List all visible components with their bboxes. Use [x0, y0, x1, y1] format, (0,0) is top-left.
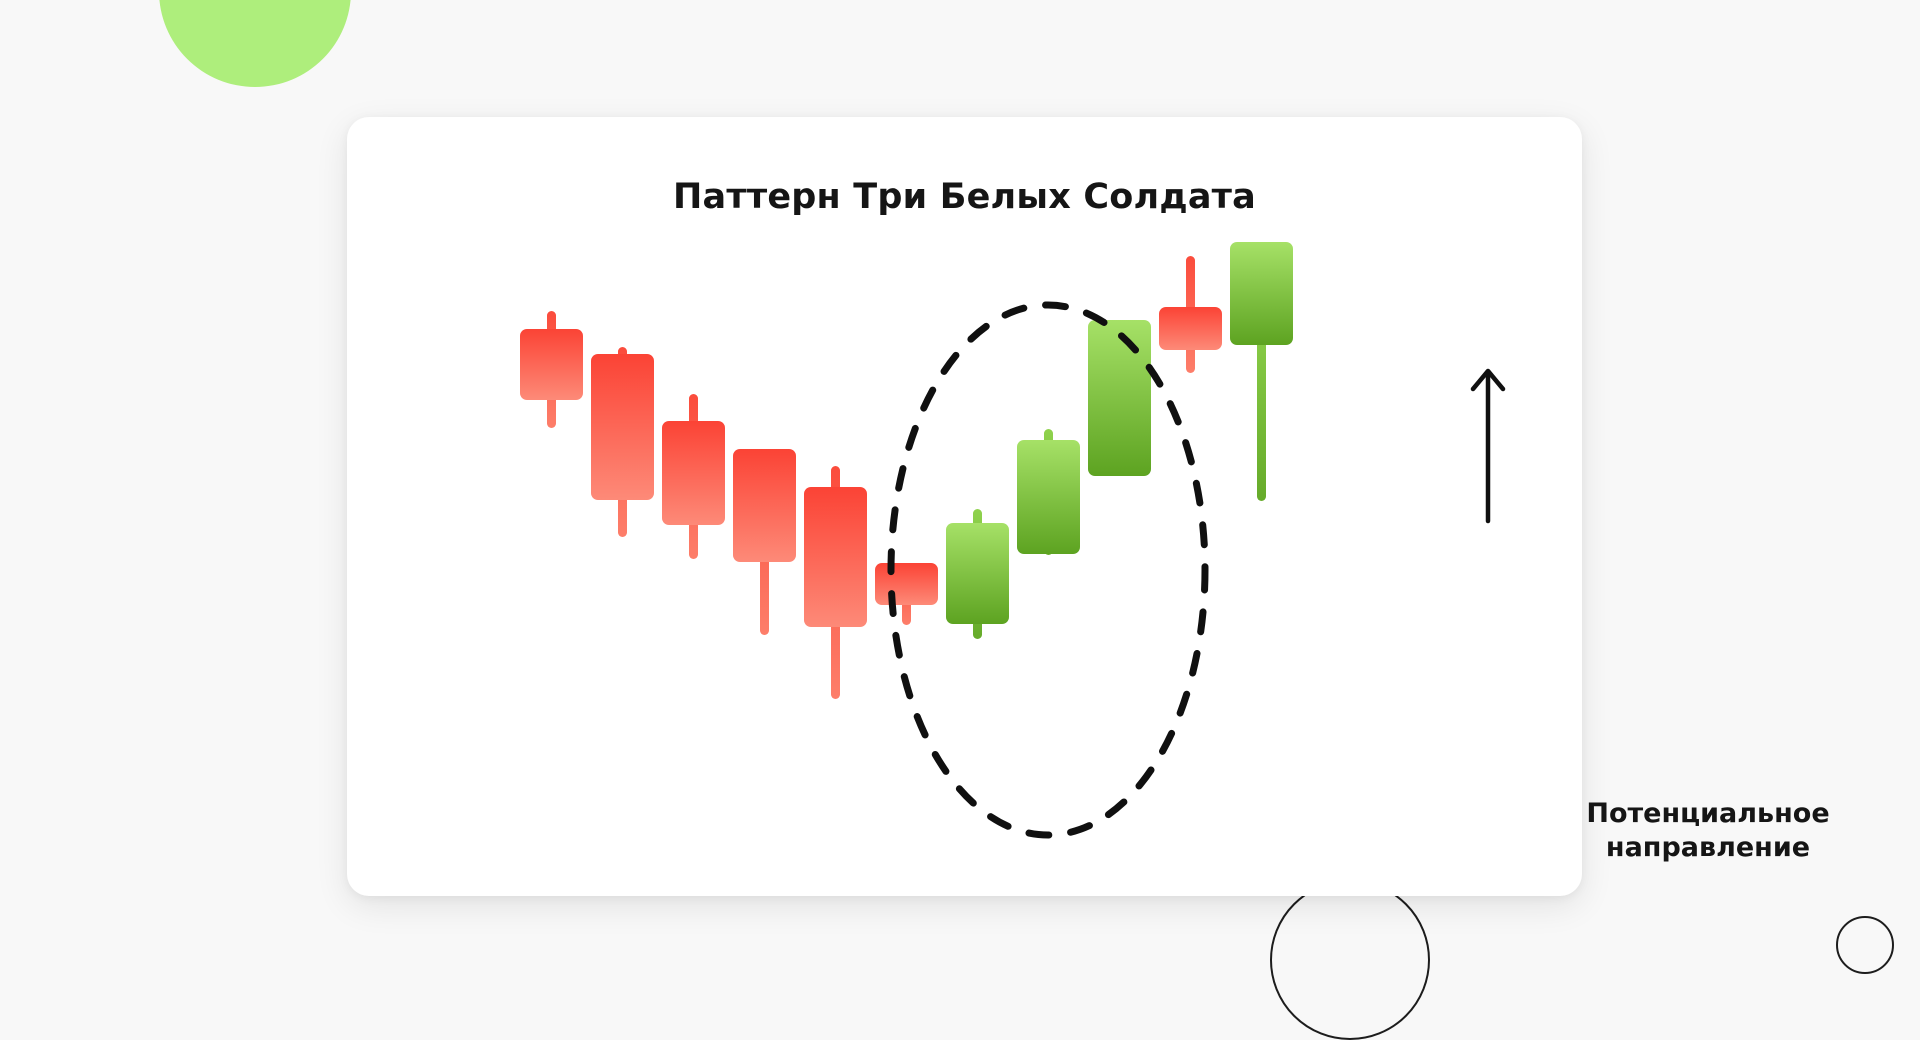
outline-circle-small-decoration: [1836, 916, 1894, 974]
candle-6-bearish: [875, 563, 938, 625]
direction-line-1: Потенциальное: [1543, 797, 1873, 831]
candle-11-bullish: [1230, 242, 1293, 501]
candle-2-bearish: [591, 347, 654, 537]
candle-8-bullish-soldier-2: [1017, 429, 1080, 555]
candlestick-chart: [347, 117, 1582, 896]
green-blob-decoration: [159, 0, 351, 87]
candle-5-bearish: [804, 466, 867, 699]
candle-9-bullish-soldier-3: [1088, 320, 1151, 476]
up-arrow-icon: [1473, 371, 1503, 521]
candle-4-bearish: [733, 449, 796, 635]
candle-3-bearish: [662, 394, 725, 559]
dashed-ellipse-highlight: [891, 305, 1205, 835]
candle-1-bearish: [520, 311, 583, 428]
outline-circle-large-decoration: [1270, 880, 1430, 1040]
pattern-card: Паттерн Три Белых Солдата: [347, 117, 1582, 896]
candle-10-bearish: [1159, 256, 1222, 373]
direction-annotation: Потенциальное направление: [1543, 797, 1873, 865]
direction-line-2: направление: [1543, 831, 1873, 865]
candle-7-bullish-soldier-1: [946, 509, 1009, 639]
